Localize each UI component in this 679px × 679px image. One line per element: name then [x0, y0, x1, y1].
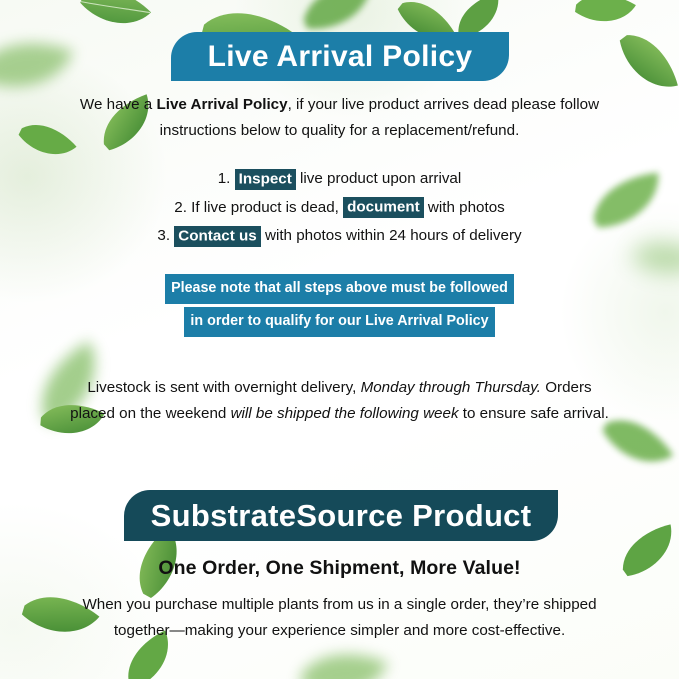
intro-paragraph: We have a Live Arrival Policy, if your l… [60, 92, 619, 144]
substratesource-product-banner-title: SubstrateSource Product [151, 498, 532, 534]
step-after-text: with photos [424, 199, 505, 216]
intro-lead-plain: We have a [80, 96, 157, 113]
value-proposition-heading: One Order, One Shipment, More Value! [40, 557, 639, 580]
value-proposition-paragraph: When you purchase multiple plants from u… [70, 592, 609, 644]
shipping-line1-plain: Livestock is sent with overnight deliver… [87, 379, 360, 396]
step-before-text: If live product is dead, [187, 199, 343, 216]
list-item: 3. Contact us with photos within 24 hour… [40, 222, 639, 251]
policy-infographic: Live Arrival Policy We have a Live Arriv… [0, 0, 679, 679]
step-keyword-highlight: document [343, 197, 424, 218]
intro-line2: instructions below to quality for a repl… [160, 122, 520, 139]
step-keyword-highlight: Contact us [174, 226, 260, 247]
note-line-2: in order to qualify for our Live Arrival… [184, 307, 494, 337]
note-row: Please note that all steps above must be… [40, 274, 639, 304]
intro-lead-bold: Live Arrival Policy [156, 96, 287, 113]
step-after-text: live product upon arrival [296, 170, 461, 187]
list-item: 2. If live product is dead, document wit… [40, 194, 639, 223]
live-arrival-policy-banner-title: Live Arrival Policy [208, 40, 473, 74]
step-number: 2. [174, 199, 187, 216]
step-after-text: with photos within 24 hours of delivery [261, 227, 522, 244]
list-item: 1. Inspect live product upon arrival [40, 165, 639, 194]
live-arrival-policy-banner: Live Arrival Policy [171, 32, 509, 81]
step-number: 1. [218, 170, 231, 187]
note-line-1: Please note that all steps above must be… [165, 274, 514, 304]
intro-line1-rest: , if your live product arrives dead plea… [288, 96, 600, 113]
policy-note-block: Please note that all steps above must be… [40, 274, 639, 340]
shipping-line2-italic: will be shipped the following week [231, 405, 459, 422]
shipping-line1-italic: Monday through Thursday. [361, 379, 541, 396]
step-number: 3. [157, 227, 170, 244]
shipping-line3: to ensure safe arrival. [463, 405, 609, 422]
value-body-line2: together—making your experience simpler … [114, 622, 565, 639]
substratesource-product-banner: SubstrateSource Product [124, 490, 558, 541]
value-body-line1: When you purchase multiple plants from u… [82, 596, 596, 613]
shipping-schedule-paragraph: Livestock is sent with overnight deliver… [70, 375, 609, 427]
note-row: in order to qualify for our Live Arrival… [40, 307, 639, 337]
steps-list: 1. Inspect live product upon arrival 2. … [40, 165, 639, 251]
step-keyword-highlight: Inspect [235, 169, 296, 190]
